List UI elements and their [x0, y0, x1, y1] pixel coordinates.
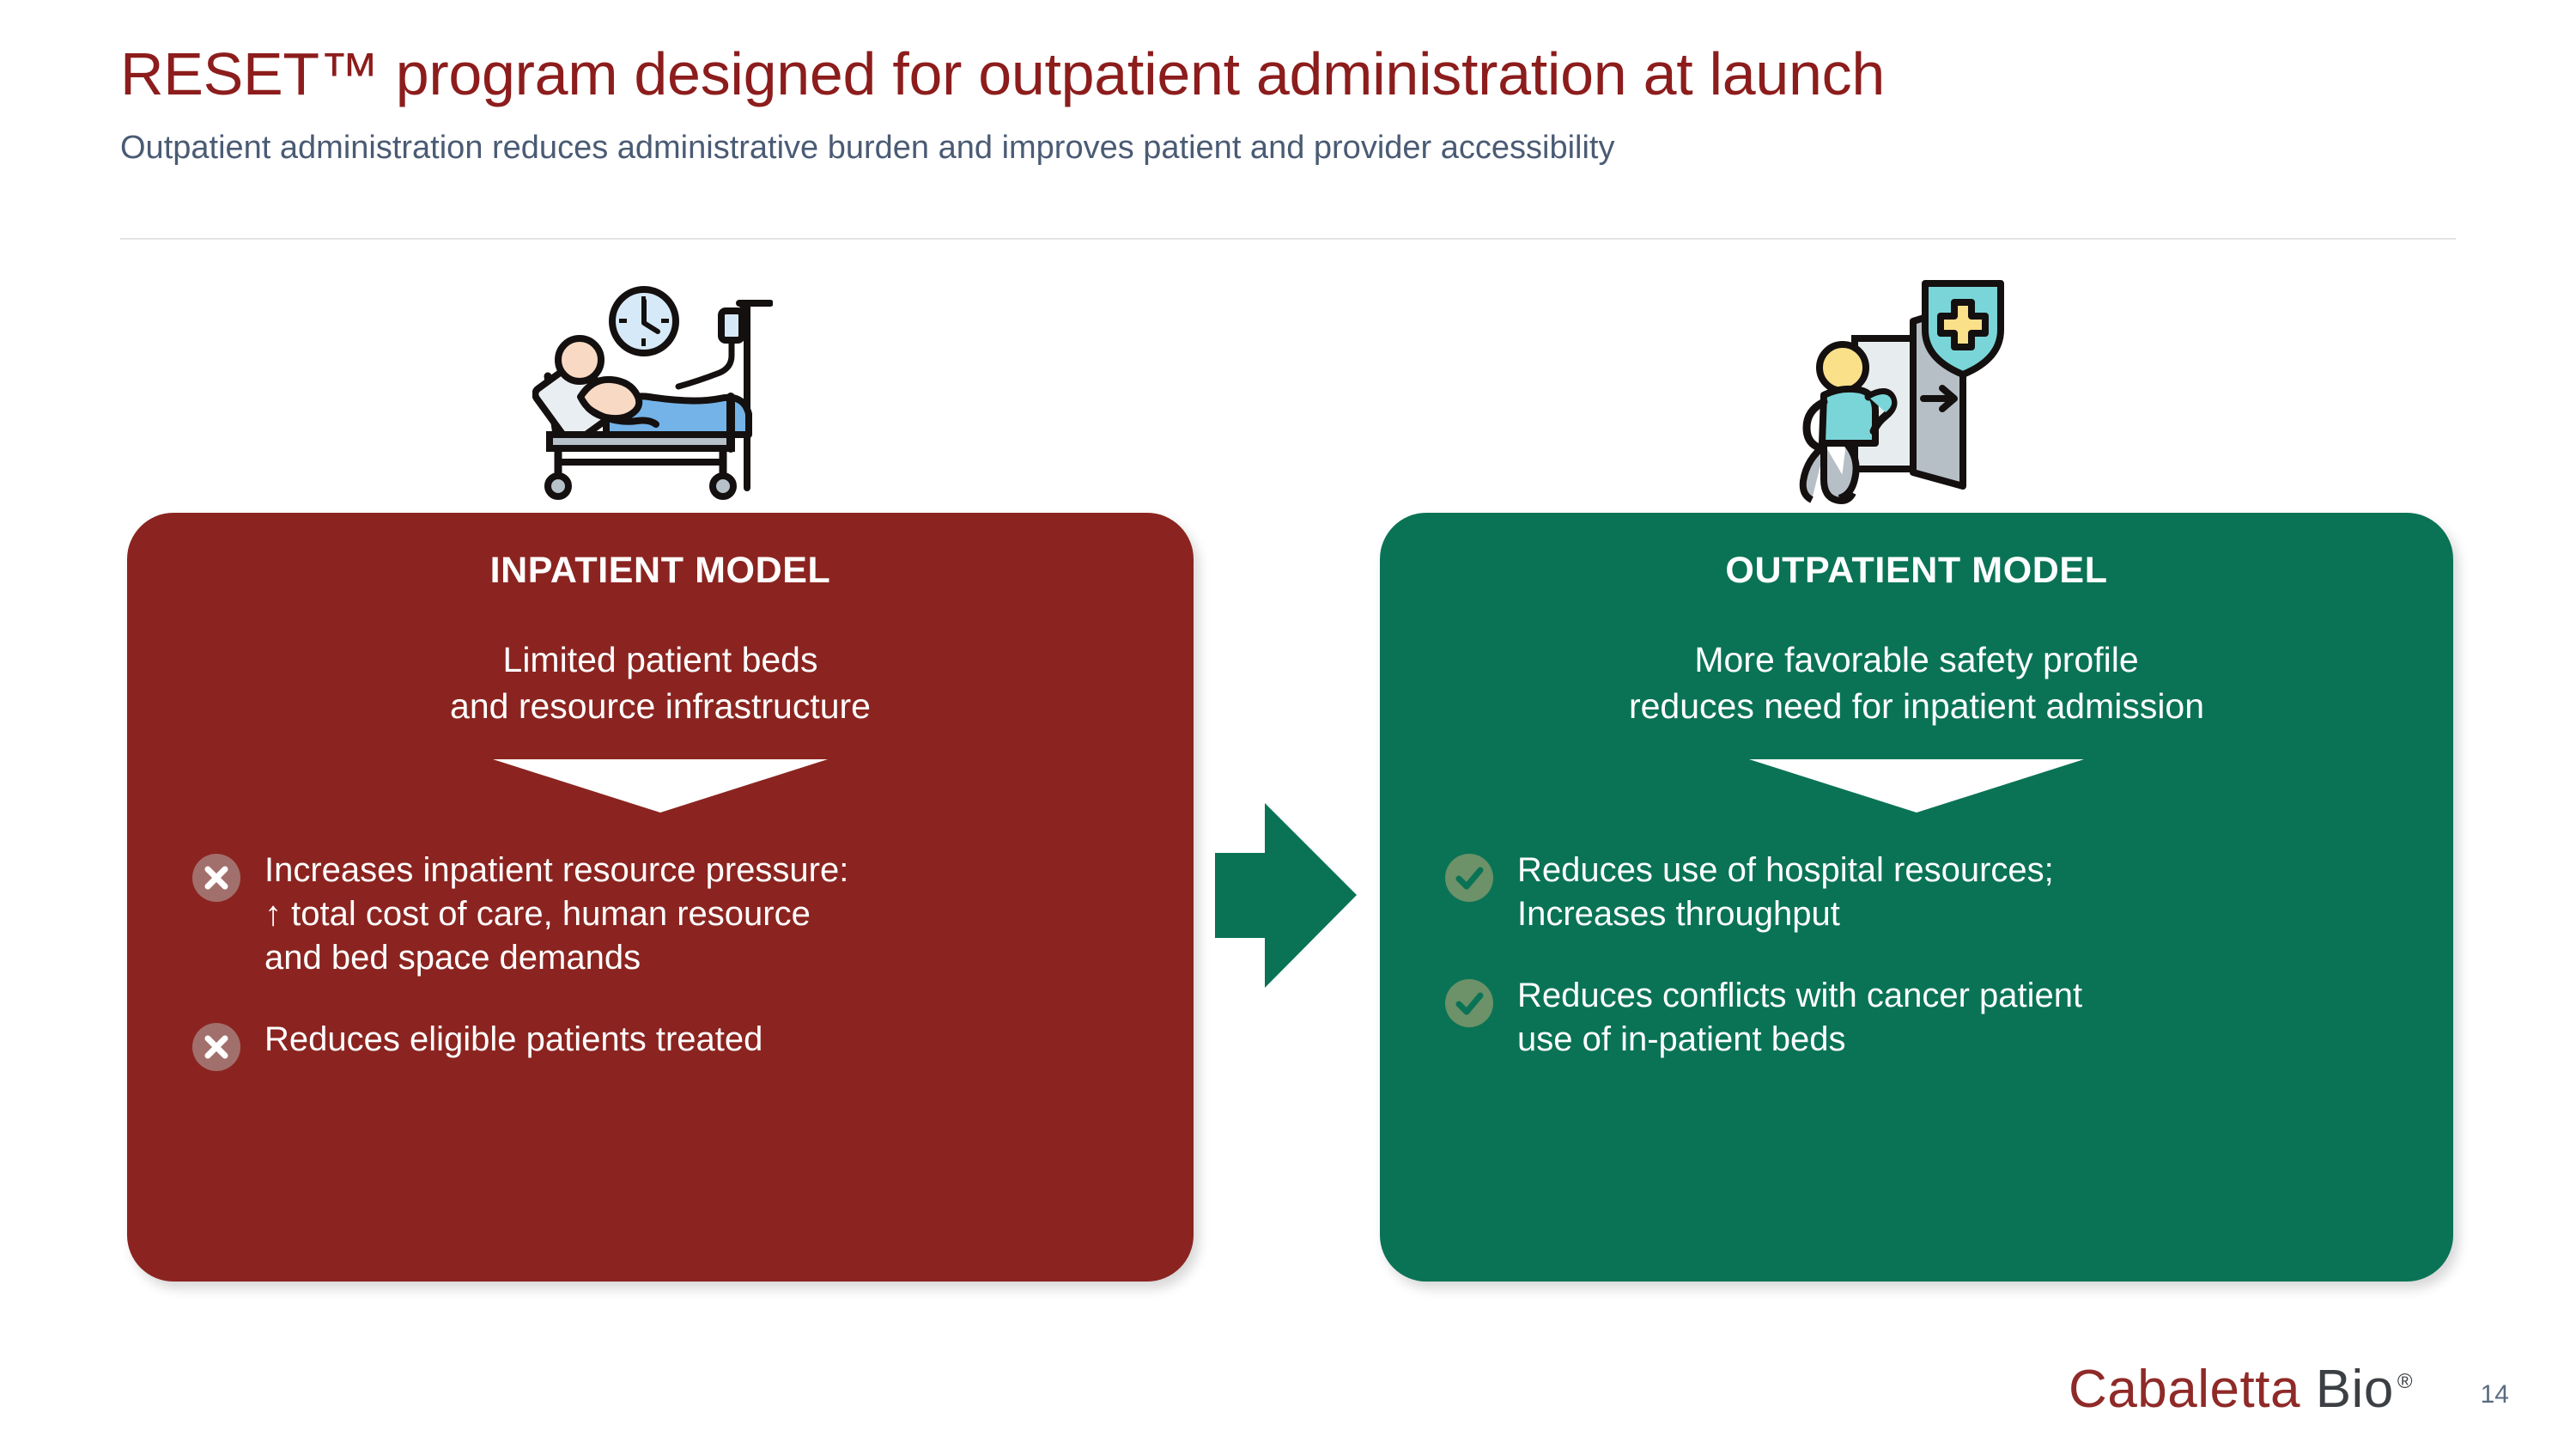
card-title-inpatient: INPATIENT MODEL [177, 549, 1144, 594]
bullet-list-inpatient: Increases inpatient resource pressure: ↑… [177, 849, 1144, 1072]
page-title: RESET™ program designed for outpatient a… [120, 41, 2456, 107]
x-circle-icon [192, 854, 240, 902]
list-item: Reduces conflicts with cancer patient us… [1445, 974, 2400, 1062]
list-item-label: Reduces use of hospital resources; Incre… [1517, 849, 2054, 936]
card-title-outpatient: OUTPATIENT MODEL [1430, 549, 2403, 594]
list-item: Increases inpatient resource pressure: ↑… [192, 849, 1140, 981]
slide-header: RESET™ program designed for outpatient a… [120, 41, 2456, 167]
patient-exiting-door-medical-shield-icon [1795, 273, 2018, 507]
inpatient-model-card: INPATIENT MODEL Limited patient beds and… [127, 513, 1194, 1282]
list-item-label: Increases inpatient resource pressure: ↑… [264, 849, 848, 981]
list-item-label: Reduces conflicts with cancer patient us… [1517, 974, 2082, 1062]
down-caret-icon-outpatient [1749, 759, 2084, 813]
brand-logo: Cabaletta Bio® [2069, 1363, 2413, 1416]
card-lede-outpatient: More favorable safety profile reduces ne… [1430, 636, 2403, 730]
down-caret-icon-inpatient [493, 759, 828, 813]
right-arrow-icon [1215, 803, 1357, 988]
list-item-label: Reduces eligible patients treated [264, 1018, 762, 1062]
hospital-bed-patient-iv-clock-icon [532, 275, 773, 507]
check-circle-icon [1445, 854, 1493, 902]
brand-name-secondary: Bio [2316, 1360, 2394, 1419]
x-circle-icon [192, 1023, 240, 1071]
card-lede-inpatient: Limited patient beds and resource infras… [177, 636, 1144, 730]
registered-trademark-icon: ® [2397, 1370, 2413, 1393]
bullet-list-outpatient: Reduces use of hospital resources; Incre… [1430, 849, 2403, 1062]
page-subtitle: Outpatient administration reduces admini… [120, 130, 2456, 167]
page-number: 14 [2481, 1380, 2509, 1409]
check-circle-icon [1445, 979, 1493, 1027]
list-item: Reduces eligible patients treated [192, 1018, 1140, 1071]
header-divider [120, 238, 2456, 240]
brand-name-primary: Cabaletta [2069, 1360, 2300, 1419]
list-item: Reduces use of hospital resources; Incre… [1445, 849, 2400, 936]
outpatient-model-card: OUTPATIENT MODEL More favorable safety p… [1380, 513, 2453, 1282]
